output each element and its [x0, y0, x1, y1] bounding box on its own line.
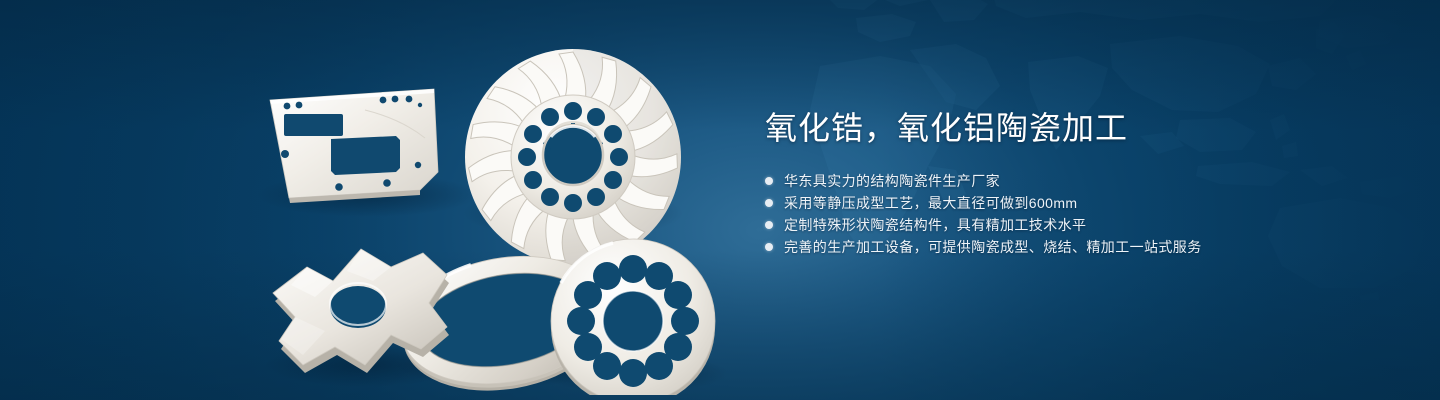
ceramic-machined-plate: [270, 89, 438, 203]
hero-banner: 氧化锆，氧化铝陶瓷加工 华东具实力的结构陶瓷件生产厂家 采用等静压成型工艺，最大…: [0, 0, 1440, 400]
feature-bullet-item: 华东具实力的结构陶瓷件生产厂家: [765, 170, 1385, 192]
bullet-dot-icon: [765, 243, 773, 251]
ceramic-perforated-disc: [551, 239, 715, 395]
banner-headline: 氧化锆，氧化铝陶瓷加工: [765, 106, 1385, 150]
feature-bullet-item: 采用等静压成型工艺，最大直径可做到600mm: [765, 192, 1385, 214]
feature-bullet-text: 采用等静压成型工艺，最大直径可做到600mm: [784, 192, 1077, 214]
feature-bullet-text: 定制特殊形状陶瓷结构件，具有精加工技术水平: [784, 214, 1086, 236]
feature-bullet-text: 完善的生产加工设备，可提供陶瓷成型、烧结、精加工一站式服务: [784, 236, 1202, 258]
bullet-dot-icon: [765, 221, 773, 229]
ceramic-impeller-disc: [465, 49, 681, 265]
bullet-dot-icon: [765, 199, 773, 207]
feature-bullet-list: 华东具实力的结构陶瓷件生产厂家 采用等静压成型工艺，最大直径可做到600mm 定…: [765, 170, 1385, 258]
ceramic-products-image: [215, 35, 735, 395]
ceramic-cross-plate: [273, 249, 449, 373]
bullet-dot-icon: [765, 177, 773, 185]
feature-bullet-item: 定制特殊形状陶瓷结构件，具有精加工技术水平: [765, 214, 1385, 236]
banner-text-column: 氧化锆，氧化铝陶瓷加工 华东具实力的结构陶瓷件生产厂家 采用等静压成型工艺，最大…: [765, 106, 1385, 258]
feature-bullet-text: 华东具实力的结构陶瓷件生产厂家: [784, 170, 1000, 192]
feature-bullet-item: 完善的生产加工设备，可提供陶瓷成型、烧结、精加工一站式服务: [765, 236, 1385, 258]
